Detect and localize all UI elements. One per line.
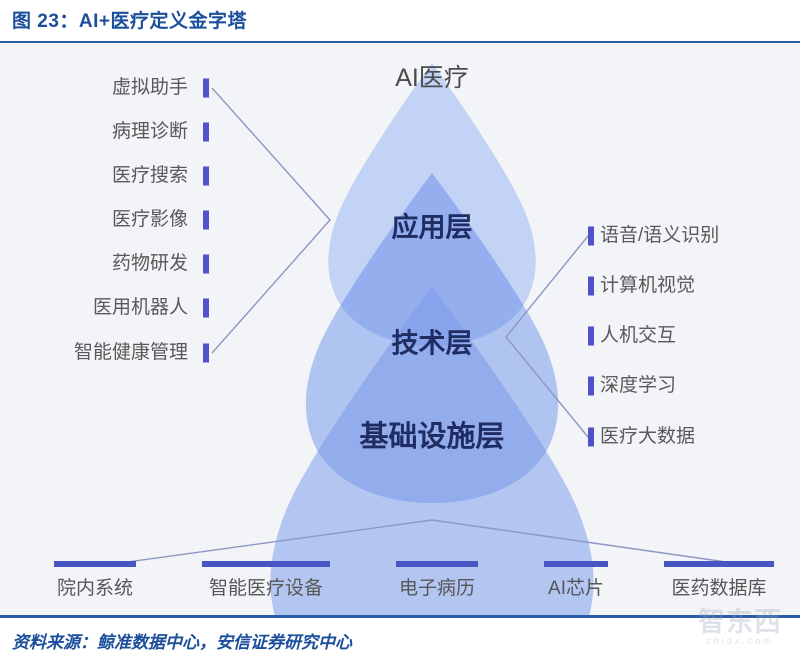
left-item-marker-4	[203, 255, 209, 274]
right-item-label-3: 深度学习	[600, 376, 676, 396]
left-item-label-4: 药物研发	[112, 254, 188, 274]
layer-label-technology: 技术层	[392, 322, 473, 361]
source-note: 资料来源：鲸准数据中心，安信证券研究中心	[12, 628, 352, 653]
left-item-label-1: 病理诊断	[112, 122, 188, 142]
left-item-label-0: 虚拟助手	[112, 78, 188, 98]
left-item-marker-5	[203, 299, 209, 318]
left-item-label-6: 智能健康管理	[74, 343, 188, 363]
figure-page: 图 23：AI+医疗定义金字塔	[0, 0, 800, 665]
right-item-label-4: 医疗大数据	[600, 427, 695, 447]
watermark-domain: zhidx.com	[686, 636, 794, 646]
bottom-item-4: 医药数据库	[664, 561, 774, 600]
left-item-marker-0	[203, 79, 209, 98]
layer-label-application: 应用层	[392, 206, 473, 245]
right-item-marker-2	[588, 327, 594, 346]
bottom-item-3: AI芯片	[544, 561, 608, 600]
left-item-marker-6	[203, 344, 209, 363]
right-item-label-2: 人机交互	[600, 326, 676, 346]
bottom-item-marker-3	[544, 561, 608, 567]
left-item-marker-2	[203, 167, 209, 186]
left-item-label-5: 医用机器人	[93, 298, 188, 318]
footer-divider	[0, 615, 800, 618]
figure-header: 图 23：AI+医疗定义金字塔	[0, 0, 800, 42]
page-title: 图 23：AI+医疗定义金字塔	[12, 6, 247, 33]
left-item-label-3: 医疗影像	[112, 210, 188, 230]
bottom-item-marker-0	[54, 561, 136, 567]
bottom-item-marker-4	[664, 561, 774, 567]
right-item-marker-0	[588, 227, 594, 246]
right-item-label-1: 计算机视觉	[600, 276, 695, 296]
bottom-item-label-4: 医药数据库	[664, 573, 774, 600]
bottom-item-marker-2	[396, 561, 478, 567]
right-item-marker-3	[588, 377, 594, 396]
right-item-marker-1	[588, 277, 594, 296]
bottom-item-0: 院内系统	[54, 561, 136, 600]
bottom-item-label-3: AI芯片	[544, 573, 608, 600]
bottom-item-2: 电子病历	[396, 561, 478, 600]
bottom-item-marker-1	[202, 561, 330, 567]
diagram-canvas: AI医疗 应用层 技术层 基础设施层 虚拟助手 病理诊断 医疗搜索 医疗影像 药…	[0, 43, 800, 615]
left-item-marker-3	[203, 211, 209, 230]
bottom-item-label-1: 智能医疗设备	[202, 573, 330, 600]
bottom-item-1: 智能医疗设备	[202, 561, 330, 600]
left-item-label-2: 医疗搜索	[112, 166, 188, 186]
left-item-marker-1	[203, 123, 209, 142]
bottom-item-label-2: 电子病历	[396, 573, 478, 600]
left-connector-line	[212, 88, 330, 353]
layer-label-infrastructure: 基础设施层	[359, 413, 504, 455]
bottom-item-label-0: 院内系统	[54, 573, 136, 600]
right-item-label-0: 语音/语义识别	[600, 226, 719, 246]
apex-label: AI医疗	[395, 58, 469, 94]
right-item-marker-4	[588, 428, 594, 447]
